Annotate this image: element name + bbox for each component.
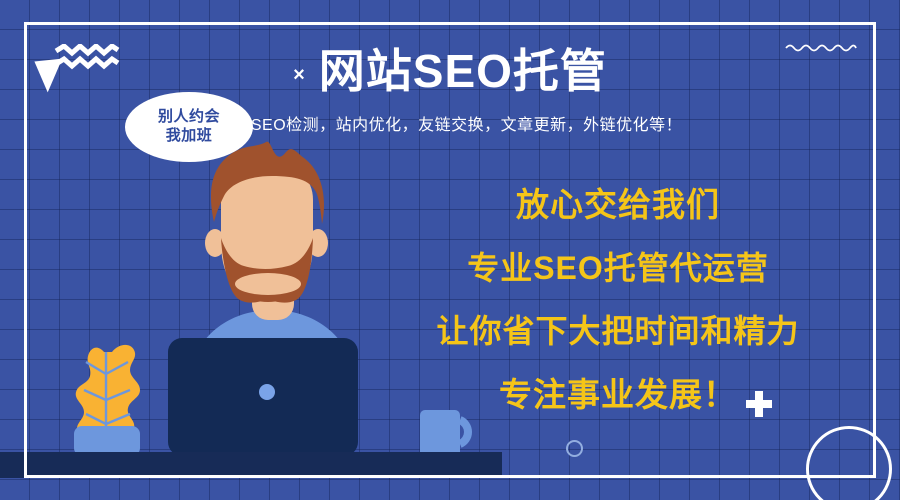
- laptop-logo: [259, 384, 275, 400]
- slogan-line-3: 让你省下大把时间和精力: [398, 315, 838, 347]
- speech-bubble: 别人约会 我加班: [125, 92, 253, 162]
- small-ring-icon: [566, 440, 583, 457]
- slogan-list: 放心交给我们 专业SEO托管代运营 让你省下大把时间和精力 专注事业发展！: [398, 188, 838, 411]
- speech-bubble-line-2: 我加班: [166, 127, 213, 146]
- slogan-line-2: 专业SEO托管代运营: [398, 252, 838, 284]
- slogan-line-1: 放心交给我们: [398, 188, 838, 221]
- plant-illustration: [74, 345, 140, 456]
- title-row: × 网站SEO托管: [0, 46, 900, 97]
- desk-edge: [0, 470, 252, 478]
- speech-bubble-line-1: 别人约会: [158, 108, 220, 127]
- page-title: 网站SEO托管: [319, 46, 607, 97]
- coffee-mug: [420, 410, 468, 458]
- speech-bubble-tail: [34, 59, 65, 94]
- seo-promo-banner: × 网站SEO托管 含：SEO检测，站内优化，友链交换，文章更新，外链优化等！ …: [0, 0, 900, 500]
- x-mark-icon: ×: [293, 65, 305, 85]
- slogan-line-4: 专注事业发展！: [398, 378, 838, 411]
